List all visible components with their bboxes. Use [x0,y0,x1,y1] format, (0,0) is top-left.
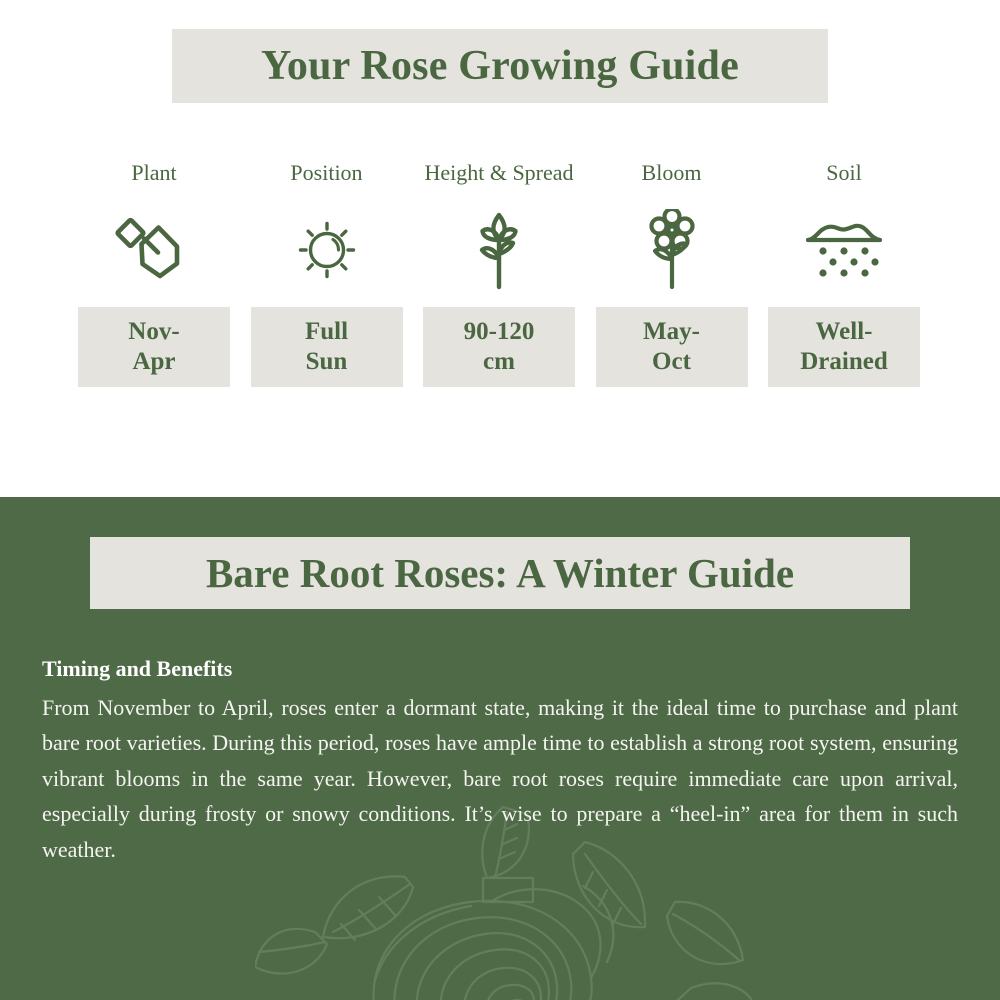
attribute-value-box-height-spread: 90-120cm [423,307,575,387]
article-paragraph: From November to April, roses enter a do… [42,690,958,868]
article-title-band: Bare Root Roses: A Winter Guide [90,537,910,609]
attribute-value-height-spread: 90-120cm [458,317,541,378]
sprout-icon [468,207,530,293]
attribute-label-soil: Soil [826,160,861,185]
guide-title-band: Your Rose Growing Guide [172,29,828,103]
attribute-label-height-spread: Height & Spread [424,160,573,185]
article-subhead: Timing and Benefits [42,655,958,684]
attribute-value-box-position: FullSun [251,307,403,387]
attribute-label-position: Position [290,160,362,185]
attribute-column-height-spread: Height & Spread 90-120cm [423,160,575,387]
attribute-value-box-bloom: May-Oct [596,307,748,387]
attribute-label-plant: Plant [131,160,176,185]
page-title: Your Rose Growing Guide [261,45,739,87]
attribute-label-bloom: Bloom [642,160,702,185]
attribute-column-soil: Soil [768,160,920,387]
attribute-value-plant: Nov-Apr [122,317,185,378]
soil-icon [802,207,886,293]
attribute-column-position: Position Fu [251,160,403,387]
sun-icon [291,207,363,293]
flower-icon [641,207,703,293]
attribute-value-bloom: May-Oct [637,317,706,378]
attribute-value-box-soil: Well-Drained [768,307,920,387]
attribute-column-bloom: Bloom May-Oct [596,160,748,387]
article-title: Bare Root Roses: A Winter Guide [206,553,794,594]
rose-growing-guide-page: Your Rose Growing Guide Plant Nov-Apr [0,0,1000,1000]
attribute-column-plant: Plant Nov-Apr [78,160,230,387]
attribute-row: Plant Nov-Apr Position [78,160,920,387]
attribute-value-position: FullSun [299,317,354,378]
attribute-value-box-plant: Nov-Apr [78,307,230,387]
attribute-value-soil: Well-Drained [794,317,894,378]
article-section: Bare Root Roses: A Winter Guide Timing a… [0,497,1000,1000]
article-body: Timing and Benefits From November to Apr… [42,655,958,868]
trowel-icon [114,207,194,293]
guide-section: Your Rose Growing Guide Plant Nov-Apr [0,0,1000,497]
